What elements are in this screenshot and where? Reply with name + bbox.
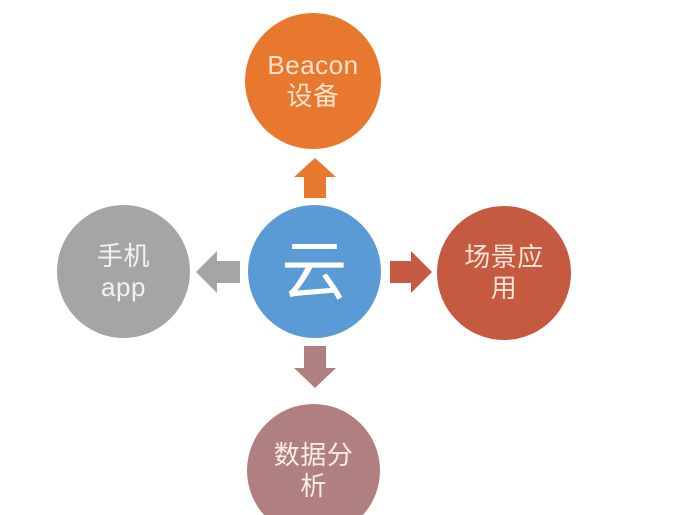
arrow-right-icon — [390, 251, 432, 293]
arrow-down-icon — [294, 346, 336, 388]
node-beacon-device[interactable]: Beacon 设备 — [245, 13, 381, 149]
node-mobile-app-label: 手机 app — [91, 241, 156, 302]
node-cloud-label: 云 — [275, 233, 354, 311]
node-scenario-application-label: 场景应 用 — [458, 242, 550, 303]
node-data-analysis-label: 数据分 析 — [268, 440, 360, 501]
arrow-right-shape — [390, 251, 432, 293]
node-data-analysis[interactable]: 数据分 析 — [247, 404, 380, 515]
node-mobile-app[interactable]: 手机 app — [57, 205, 190, 338]
arrow-left-icon — [196, 251, 240, 293]
node-scenario-application[interactable]: 场景应 用 — [437, 206, 571, 340]
diagram-canvas: Beacon 设备 手机 app 云 场景应 用 数据分 析 — [0, 0, 674, 515]
arrow-down-shape — [294, 346, 336, 388]
node-cloud[interactable]: 云 — [248, 205, 381, 338]
arrow-up-icon — [294, 158, 336, 198]
node-beacon-device-label: Beacon 设备 — [261, 50, 364, 111]
arrow-up-shape — [294, 158, 336, 198]
arrow-left-shape — [196, 251, 240, 293]
